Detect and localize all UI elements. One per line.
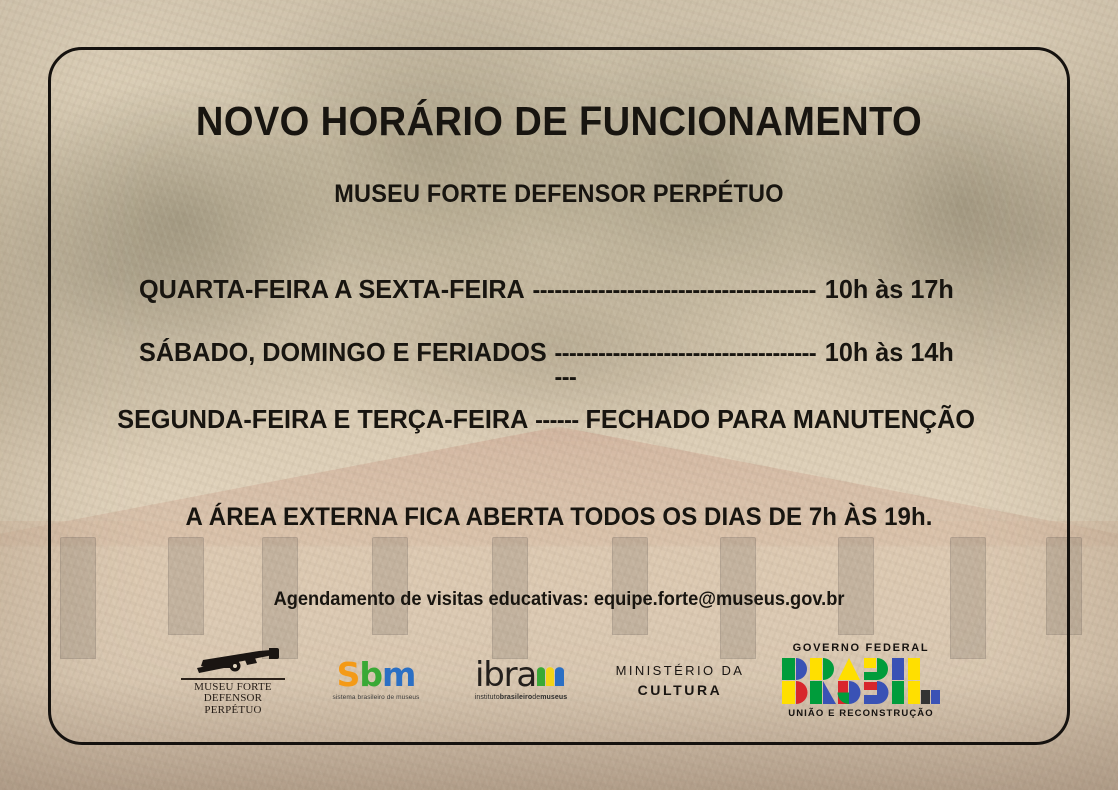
outdoor-area-notice: A ÁREA EXTERNA FICA ABERTA TODOS OS DIAS… xyxy=(22,503,1095,532)
ministerio-da-cultura-logo: MINISTÉRIO DA CULTURA xyxy=(620,663,740,698)
logo-strip: MUSEU FORTE DEFENSOR PERPÉTUO Sbm sistem… xyxy=(0,634,1118,726)
schedule-days: QUARTA-FEIRA A SEXTA-FEIRA xyxy=(139,274,525,305)
poster-content: NOVO HORÁRIO DE FUNCIONAMENTO MUSEU FORT… xyxy=(0,0,1118,790)
museu-logo-text: MUSEU FORTE DEFENSOR PERPÉTUO xyxy=(174,682,292,717)
museu-forte-defensor-perpetuo-logo: MUSEU FORTE DEFENSOR PERPÉTUO xyxy=(174,644,292,716)
schedule-days: SÁBADO, DOMINGO E FERIADOS xyxy=(139,337,547,368)
schedule-days: SEGUNDA-FEIRA E TERÇA-FEIRA xyxy=(117,404,528,435)
ibram-tagline-2: brasileiro xyxy=(500,694,533,701)
poster: NOVO HORÁRIO DE FUNCIONAMENTO MUSEU FORT… xyxy=(0,0,1118,790)
cannon-icon xyxy=(183,644,283,676)
booking-contact-line: Agendamento de visitas educativas: equip… xyxy=(22,589,1095,611)
governo-federal-logo: GOVERNO FEDERAL xyxy=(778,642,944,719)
ibram-letters: ibra xyxy=(475,659,536,691)
ibram-logo: ibra institutobrasileirodemuseus xyxy=(460,659,582,701)
sbm-letter-s: S xyxy=(337,655,360,694)
minc-line2: CULTURA xyxy=(638,682,723,698)
schedule-row: SEGUNDA-FEIRA E TERÇA-FEIRA ------ FECHA… xyxy=(130,404,962,435)
ibram-colored-m-icon xyxy=(537,659,567,680)
museu-logo-line2: DEFENSOR PERPÉTUO xyxy=(174,693,292,716)
museum-name-subtitle: MUSEU FORTE DEFENSOR PERPÉTUO xyxy=(34,180,1085,209)
sbm-letter-m: m xyxy=(382,655,415,694)
ibram-tagline: institutobrasileirodemuseus xyxy=(475,694,568,701)
minc-line1: MINISTÉRIO DA xyxy=(616,663,745,678)
leader-dashes: --------------------------------------- xyxy=(555,342,818,390)
sbm-letter-b: b xyxy=(359,655,382,694)
schedule-status: FECHADO PARA MANUTENÇÃO xyxy=(585,404,975,435)
logo-divider xyxy=(181,678,285,680)
leader-dashes: --------------------------------------- xyxy=(533,279,818,303)
sistema-brasileiro-de-museus-logo: Sbm sistema brasileiro de museus xyxy=(330,659,422,701)
schedule-hours: 10h às 17h xyxy=(825,274,954,305)
leader-dashes: ------ xyxy=(535,409,579,433)
page-title: NOVO HORÁRIO DE FUNCIONAMENTO xyxy=(39,98,1079,145)
sbm-wordmark: Sbm xyxy=(337,659,416,691)
ibram-tagline-1: instituto xyxy=(475,694,500,701)
sbm-tagline: sistema brasileiro de museus xyxy=(333,694,420,701)
schedule-hours: 10h às 14h xyxy=(825,337,954,368)
schedule-row: QUARTA-FEIRA A SEXTA-FEIRA -------------… xyxy=(139,274,954,305)
uniao-reconstrucao-label: UNIÃO E RECONSTRUÇÃO xyxy=(788,708,934,719)
ibram-tagline-4: museus xyxy=(540,694,567,701)
governo-federal-label: GOVERNO FEDERAL xyxy=(793,642,930,654)
ibram-wordmark: ibra xyxy=(475,659,567,691)
schedule-row: SÁBADO, DOMINGO E FERIADOS -------------… xyxy=(139,337,954,390)
brasil-wordmark-icon xyxy=(782,658,940,704)
